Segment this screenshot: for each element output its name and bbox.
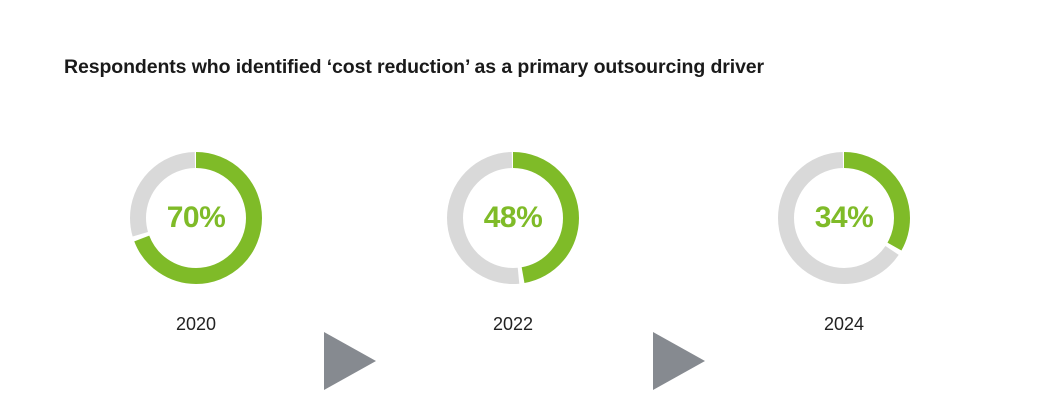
donut-year-label-2022: 2022 [428, 314, 598, 335]
donut-chart-2024: 34% [778, 152, 910, 284]
donut-svg-2020 [130, 152, 262, 284]
triangle-right-icon [322, 330, 378, 392]
donut-chart-2020: 70% [130, 152, 262, 284]
donut-group-2024: 34% 2024 [759, 140, 929, 360]
arrow-2020-to-2022 [322, 330, 378, 392]
donut-svg-2024 [778, 152, 910, 284]
donut-group-2022: 48% 2022 [428, 140, 598, 360]
triangle-right-icon [651, 330, 707, 392]
donut-year-label-2020: 2020 [111, 314, 281, 335]
donut-group-2020: 70% 2020 [111, 140, 281, 360]
arrow-2022-to-2024 [651, 330, 707, 392]
donut-chart-2022: 48% [447, 152, 579, 284]
donut-year-label-2024: 2024 [759, 314, 929, 335]
chart-title: Respondents who identified ‘cost reducti… [64, 56, 764, 79]
donut-series-row: 70% 2020 48% 2022 [0, 140, 1063, 360]
cost-reduction-donut-chart: Respondents who identified ‘cost reducti… [0, 0, 1063, 402]
donut-svg-2022 [447, 152, 579, 284]
